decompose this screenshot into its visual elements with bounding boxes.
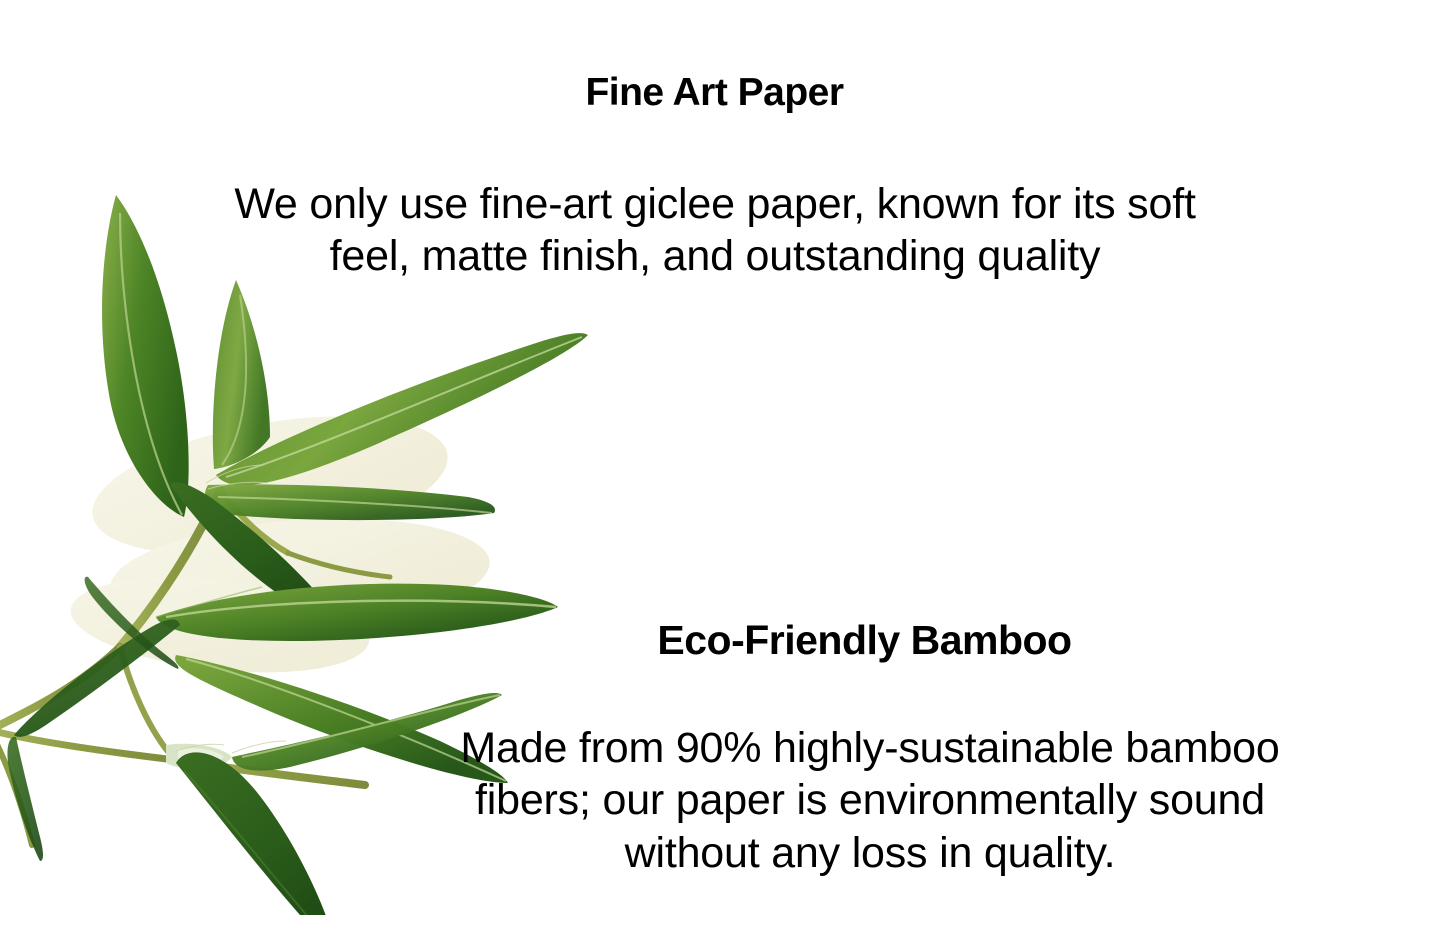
leaf-upper-short	[213, 280, 270, 469]
copy-line: without any loss in quality.	[355, 827, 1385, 879]
body-copy-eco-friendly-bamboo: Made from 90% highly-sustainable bamboo …	[355, 722, 1385, 879]
leaf-long-upper-right	[216, 333, 588, 485]
copy-line: fibers; our paper is environmentally sou…	[355, 774, 1385, 826]
copy-line: Made from 90% highly-sustainable bamboo	[355, 722, 1385, 774]
node-hairs	[176, 465, 286, 753]
copy-line: feel, matte finish, and outstanding qual…	[120, 230, 1310, 282]
copy-line: We only use fine-art giclee paper, known…	[120, 178, 1310, 230]
heading-eco-friendly-bamboo: Eco-Friendly Bamboo	[0, 618, 1429, 663]
bamboo-stems	[0, 490, 390, 845]
heading-fine-art-paper: Fine Art Paper	[0, 72, 1429, 115]
body-copy-fine-art-paper: We only use fine-art giclee paper, known…	[120, 178, 1310, 283]
leaf-far-left-bottom	[7, 737, 43, 861]
leaf-mid-upper	[205, 484, 495, 520]
leaf-dark-descending	[170, 482, 338, 620]
promo-graphic-canvas: Fine Art Paper We only use fine-art gicl…	[0, 0, 1429, 950]
stem-sheath-node	[166, 744, 232, 770]
leaf-bottom-hanging	[176, 752, 336, 915]
